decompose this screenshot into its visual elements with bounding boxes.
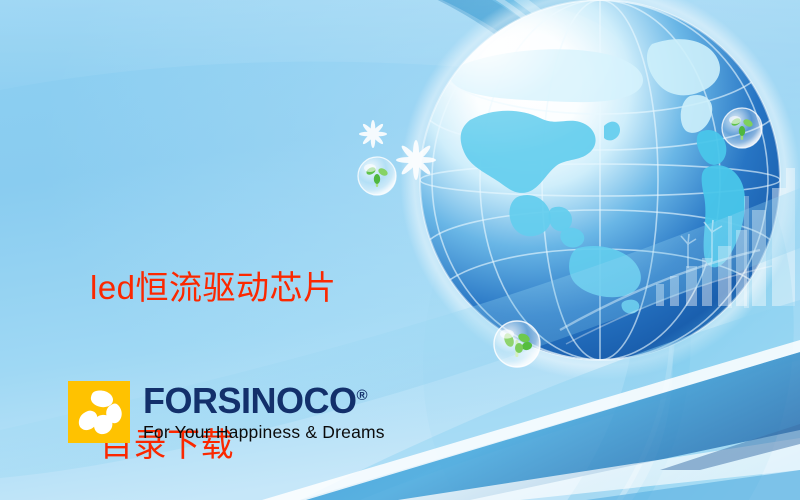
promo-banner: led恒流驱动芯片 目录下载 FORSINOCO® For bbox=[0, 0, 800, 500]
bubble-windmill-top-right bbox=[722, 108, 762, 148]
bubble-windmill-bottom bbox=[494, 321, 540, 367]
page-title: led恒流驱动芯片 目录下载 bbox=[74, 158, 337, 500]
company-logo[interactable]: FORSINOCO® For Your Happiness & Dreams bbox=[68, 381, 385, 443]
logo-tagline: For Your Happiness & Dreams bbox=[143, 422, 385, 443]
bubble-windmill-middle bbox=[358, 157, 396, 195]
registered-trademark-icon: ® bbox=[357, 387, 368, 404]
headline-line-1: led恒流驱动芯片 bbox=[74, 262, 337, 314]
logo-company-name-text: FORSINOCO bbox=[143, 380, 357, 421]
logo-wordmark: FORSINOCO® For Your Happiness & Dreams bbox=[143, 381, 385, 443]
four-petal-pinwheel-icon bbox=[68, 381, 130, 443]
logo-company-name: FORSINOCO® bbox=[143, 383, 385, 419]
